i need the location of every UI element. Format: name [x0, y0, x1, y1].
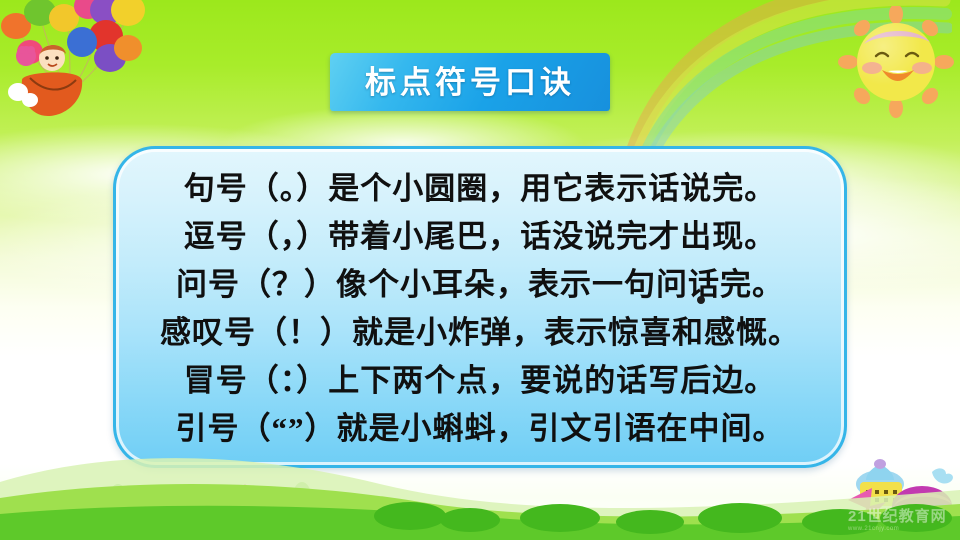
- page-title: 标点符号口诀: [365, 67, 575, 98]
- slide-canvas: 标点符号口诀 句号（。）是个小圆圈，用它表示话说完。 逗号（，）带着小尾巴，话没…: [0, 0, 960, 540]
- verse-list: 句号（。）是个小圆圈，用它表示话说完。 逗号（，）带着小尾巴，话没说完才出现。 …: [116, 165, 844, 453]
- verse-line-exclamation: 感叹号（！）就是小炸弹，表示惊喜和感慨。: [140, 309, 820, 357]
- verse-line-question: 问号（？）像个小耳朵，表示一句问话完。: [140, 261, 820, 309]
- green-hills-icon: [0, 420, 960, 540]
- verse-line-colon: 冒号（：）上下两个点，要说的话写后边。: [140, 357, 820, 405]
- smiling-sun-icon: [838, 6, 954, 118]
- title-banner: 标点符号口诀: [330, 53, 610, 111]
- balloon-child-icon: [0, 0, 170, 126]
- panel-dot-marker: [697, 296, 705, 304]
- verse-line-comma: 逗号（，）带着小尾巴，话没说完才出现。: [140, 213, 820, 261]
- verse-line-period: 句号（。）是个小圆圈，用它表示话说完。: [140, 165, 820, 213]
